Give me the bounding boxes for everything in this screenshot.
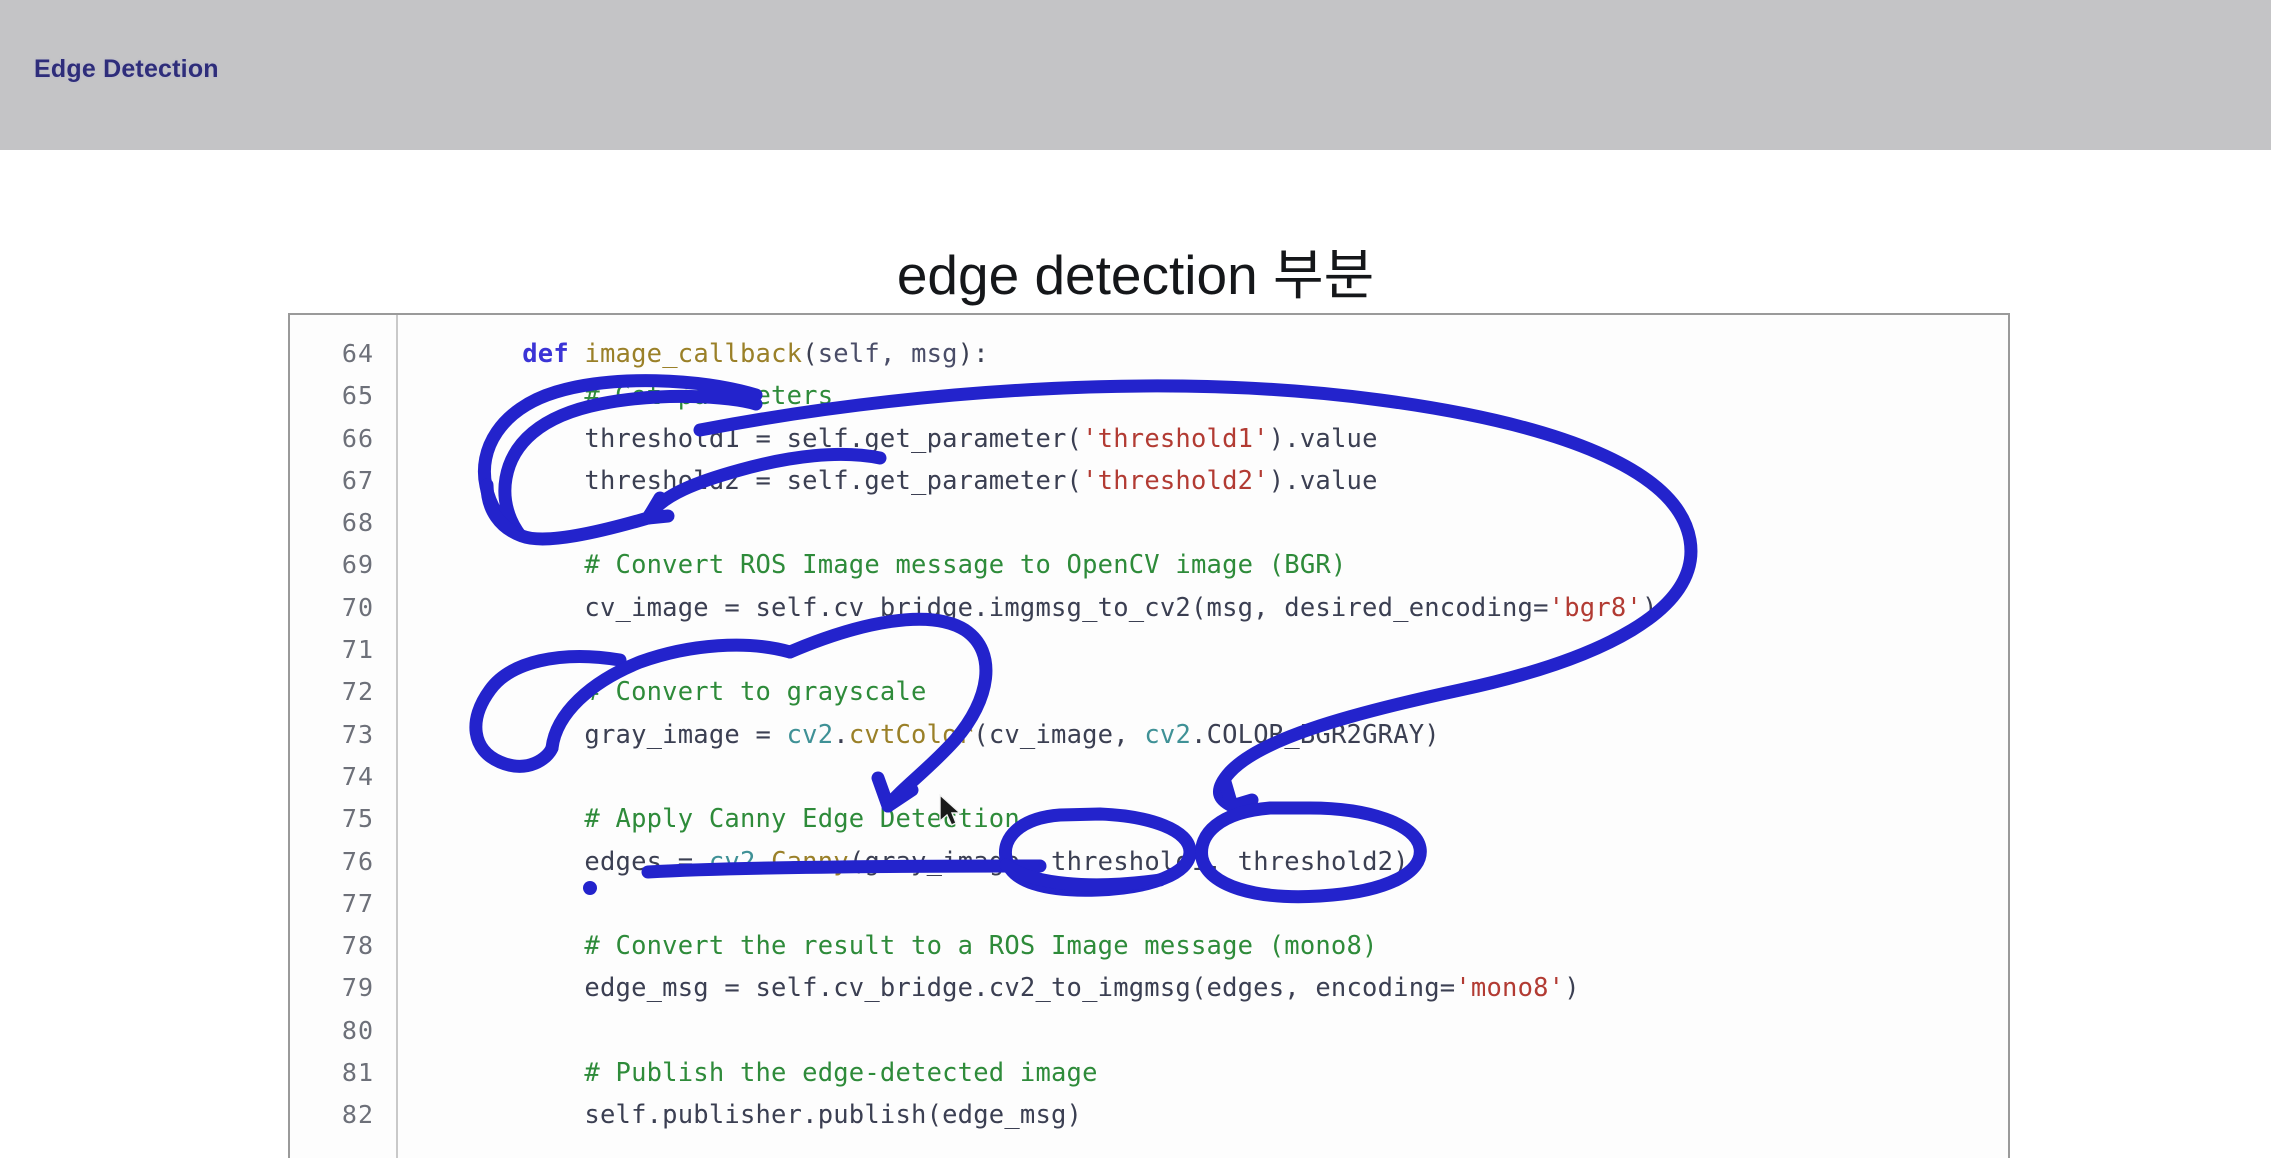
code-line-number: 71: [290, 629, 374, 671]
code-line-number: 67: [290, 460, 374, 502]
code-token: [460, 381, 584, 411]
code-token: ): [1642, 593, 1658, 623]
code-token: 'threshold2': [1082, 466, 1269, 496]
code-token: 'bgr8': [1549, 593, 1642, 623]
code-token: [569, 339, 585, 369]
code-line-number: 66: [290, 418, 374, 460]
code-token: cv2: [787, 720, 834, 750]
code-token: ): [1564, 973, 1580, 1003]
code-line-number: 72: [290, 671, 374, 713]
code-token: ).value: [1269, 466, 1378, 496]
code-token: self.publisher.publish(edge_msg): [584, 1100, 1082, 1130]
code-line[interactable]: # Convert ROS Image message to OpenCV im…: [460, 544, 2008, 586]
code-token: def: [522, 339, 569, 369]
application-top-bar: Edge Detection: [0, 0, 2271, 150]
code-token: gray_image =: [584, 720, 786, 750]
code-token: (cv_image,: [973, 720, 1144, 750]
slide-content-area: edge detection 부분 6465666768697071727374…: [0, 150, 2271, 1158]
code-token: edges =: [584, 847, 708, 877]
code-token: cvtColor: [849, 720, 973, 750]
code-token: [460, 339, 522, 369]
code-token: .: [756, 847, 772, 877]
code-block-inner: 64656667686970717273747576777879808182 d…: [290, 315, 2008, 1158]
code-token: threshold2 = self.get_parameter(: [584, 466, 1082, 496]
code-line[interactable]: def image_callback(self, msg):: [460, 333, 2008, 375]
code-token: cv2: [709, 847, 756, 877]
code-line[interactable]: [460, 629, 2008, 671]
code-token: [460, 720, 584, 750]
code-line[interactable]: # Convert to grayscale: [460, 671, 2008, 713]
code-line-number: 64: [290, 333, 374, 375]
code-line-number: 80: [290, 1010, 374, 1052]
code-token: ):: [958, 339, 989, 369]
code-token: [460, 1058, 584, 1088]
code-token: self, msg: [818, 339, 958, 369]
code-line[interactable]: [460, 1010, 2008, 1052]
code-line-number: 78: [290, 925, 374, 967]
code-token: [460, 847, 584, 877]
code-token: [460, 593, 584, 623]
code-block-panel[interactable]: 64656667686970717273747576777879808182 d…: [288, 313, 2010, 1158]
code-line-number: 77: [290, 883, 374, 925]
code-line[interactable]: # Publish the edge-detected image: [460, 1052, 2008, 1094]
code-token: [460, 550, 584, 580]
code-token: # Convert to grayscale: [584, 677, 926, 707]
code-token: edge_msg = self.cv_bridge.cv2_to_imgmsg(…: [584, 973, 1455, 1003]
code-line[interactable]: cv_image = self.cv_bridge.imgmsg_to_cv2(…: [460, 587, 2008, 629]
code-token: [460, 973, 584, 1003]
code-line-number: 75: [290, 798, 374, 840]
code-line[interactable]: # Convert the result to a ROS Image mess…: [460, 925, 2008, 967]
code-line[interactable]: threshold1 = self.get_parameter('thresho…: [460, 418, 2008, 460]
code-line-number: 74: [290, 756, 374, 798]
code-line[interactable]: [460, 883, 2008, 925]
code-token: [460, 931, 584, 961]
code-token: [460, 424, 584, 454]
code-line-number: 65: [290, 375, 374, 417]
code-token: [460, 1100, 584, 1130]
code-line[interactable]: gray_image = cv2.cvtColor(cv_image, cv2.…: [460, 714, 2008, 756]
slide-title: edge detection 부분: [0, 230, 2271, 310]
code-source-area[interactable]: def image_callback(self, msg): # Get par…: [398, 315, 2008, 1158]
screen-root: Edge Detection edge detection 부분 6465666…: [0, 0, 2271, 1158]
code-line-number: 70: [290, 587, 374, 629]
code-token: [460, 466, 584, 496]
code-line[interactable]: # Apply Canny Edge Detection: [460, 798, 2008, 840]
app-title: Edge Detection: [34, 55, 219, 84]
code-token: .COLOR_BGR2GRAY): [1191, 720, 1440, 750]
code-token: # Get parameters: [584, 381, 833, 411]
code-line-number-gutter: 64656667686970717273747576777879808182: [290, 315, 398, 1158]
code-token: .: [833, 720, 849, 750]
code-token: threshold1 = self.get_parameter(: [584, 424, 1082, 454]
code-token: [460, 677, 584, 707]
code-token: [460, 804, 584, 834]
code-token: 'threshold1': [1082, 424, 1269, 454]
code-line-number: 76: [290, 841, 374, 883]
code-token: Canny: [771, 847, 849, 877]
code-token: (gray_image, threshold1, threshold2): [849, 847, 1409, 877]
code-token: (: [802, 339, 818, 369]
code-line[interactable]: edge_msg = self.cv_bridge.cv2_to_imgmsg(…: [460, 967, 2008, 1009]
code-token: # Apply Canny Edge Detection: [584, 804, 1019, 834]
code-line[interactable]: [460, 756, 2008, 798]
code-line[interactable]: # Get parameters: [460, 375, 2008, 417]
code-line[interactable]: threshold2 = self.get_parameter('thresho…: [460, 460, 2008, 502]
code-line-number: 79: [290, 967, 374, 1009]
code-line-number: 69: [290, 544, 374, 586]
code-token: 'mono8': [1455, 973, 1564, 1003]
code-token: # Publish the edge-detected image: [584, 1058, 1097, 1088]
code-token: # Convert ROS Image message to OpenCV im…: [584, 550, 1346, 580]
code-token: ).value: [1269, 424, 1378, 454]
code-token: image_callback: [584, 339, 802, 369]
code-line[interactable]: self.publisher.publish(edge_msg): [460, 1094, 2008, 1136]
code-line-number: 73: [290, 714, 374, 756]
code-line-number: 68: [290, 502, 374, 544]
code-token: cv_image = self.cv_bridge.imgmsg_to_cv2(…: [584, 593, 1548, 623]
code-line-number: 82: [290, 1094, 374, 1136]
code-token: cv2: [1144, 720, 1191, 750]
code-line[interactable]: [460, 502, 2008, 544]
code-line[interactable]: edges = cv2.Canny(gray_image, threshold1…: [460, 841, 2008, 883]
code-line-number: 81: [290, 1052, 374, 1094]
code-token: # Convert the result to a ROS Image mess…: [584, 931, 1377, 961]
